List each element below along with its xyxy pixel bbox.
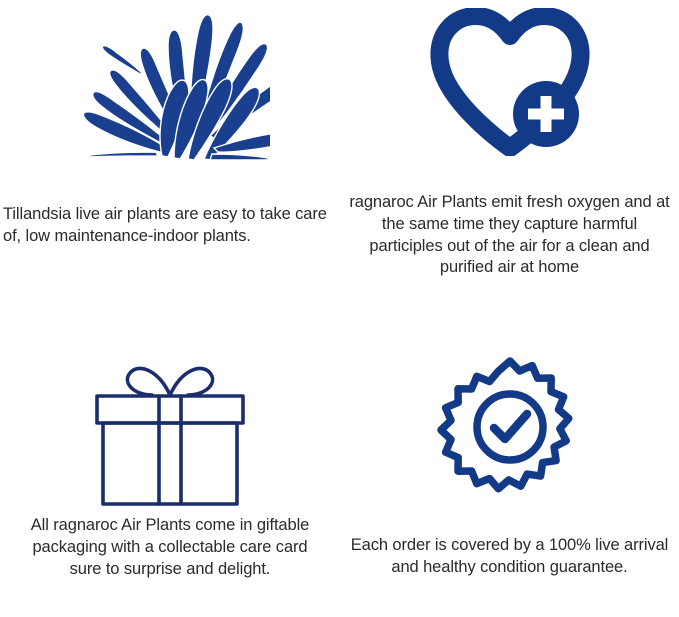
feature-panel-care: Tillandsia live air plants are easy to t…	[0, 0, 340, 307]
icon-area-care	[0, 0, 340, 160]
bow-left-loop	[127, 368, 170, 395]
feature-panel-air-purifying: ragnaroc Air Plants emit fresh oxygen an…	[340, 0, 679, 307]
gift-lid	[97, 396, 243, 423]
icon-area-air-purifying	[340, 0, 679, 160]
caption-giftable: All ragnaroc Air Plants come in giftable…	[0, 515, 340, 580]
caption-air-purifying: ragnaroc Air Plants emit fresh oxygen an…	[340, 192, 679, 279]
icon-area-guarantee	[340, 307, 679, 477]
ribbon-body	[159, 423, 181, 504]
caption-guarantee: Each order is covered by a 100% live arr…	[340, 535, 679, 579]
feature-panel-giftable: All ragnaroc Air Plants come in giftable…	[0, 307, 340, 617]
heart-plus-icon	[430, 8, 590, 156]
icon-area-giftable	[0, 307, 340, 477]
verified-badge-icon	[435, 355, 585, 505]
gift-box-icon	[90, 355, 250, 507]
feature-panel-guarantee: Each order is covered by a 100% live arr…	[340, 307, 679, 617]
ribbon-lid	[159, 396, 181, 423]
rosette-outline	[441, 361, 569, 489]
gift-body	[103, 423, 237, 504]
feature-grid: Tillandsia live air plants are easy to t…	[0, 0, 679, 617]
check-icon	[494, 414, 527, 439]
caption-care: Tillandsia live air plants are easy to t…	[0, 204, 340, 248]
air-plant-icon	[70, 2, 270, 160]
bow-right-loop	[170, 368, 213, 395]
